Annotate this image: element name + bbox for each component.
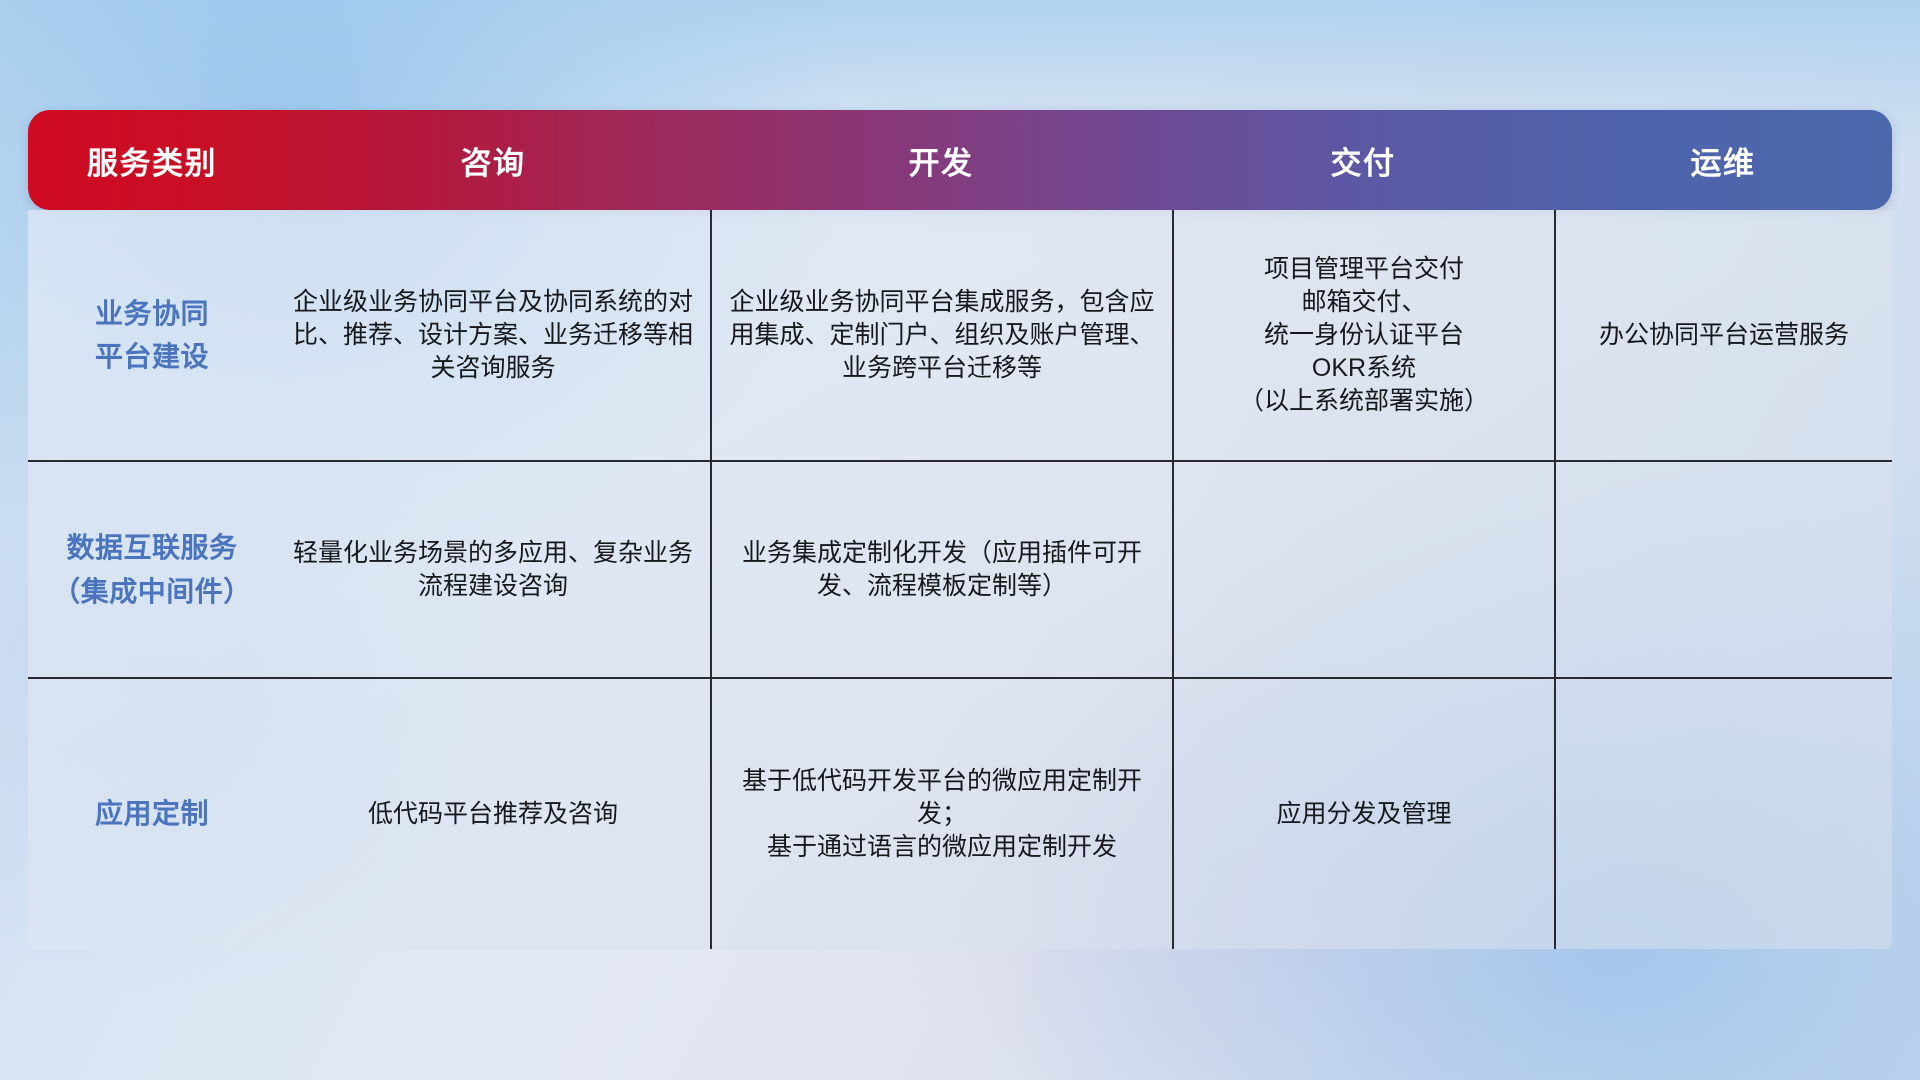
- table-row: 业务协同 平台建设 企业级业务协同平台及协同系统的对比、推荐、设计方案、业务迁移…: [28, 210, 1892, 460]
- cell-development: 业务集成定制化开发（应用插件可开发、流程模板定制等）: [710, 462, 1172, 677]
- cell-operations: [1554, 462, 1892, 677]
- cell-delivery: [1172, 462, 1554, 677]
- column-header-category: 服务类别: [28, 110, 276, 210]
- table-body: 业务协同 平台建设 企业级业务协同平台及协同系统的对比、推荐、设计方案、业务迁移…: [28, 210, 1892, 949]
- cell-consulting: 轻量化业务场景的多应用、复杂业务流程建设咨询: [276, 462, 710, 677]
- cell-operations: 办公协同平台运营服务: [1554, 210, 1892, 460]
- row-category-label: 应用定制: [28, 679, 276, 949]
- column-header-delivery: 交付: [1172, 110, 1554, 210]
- table-row: 应用定制 低代码平台推荐及咨询 基于低代码开发平台的微应用定制开发； 基于通过语…: [28, 677, 1892, 949]
- service-matrix-table: 服务类别 咨询 开发 交付 运维 业务协同 平台建设 企业级业务协同平台及协同系…: [28, 110, 1892, 949]
- cell-delivery: 项目管理平台交付 邮箱交付、 统一身份认证平台 OKR系统 （以上系统部署实施）: [1172, 210, 1554, 460]
- cell-operations: [1554, 679, 1892, 949]
- cell-development: 企业级业务协同平台集成服务，包含应用集成、定制门户、组织及账户管理、业务跨平台迁…: [710, 210, 1172, 460]
- column-header-development: 开发: [710, 110, 1172, 210]
- table-row: 数据互联服务 （集成中间件） 轻量化业务场景的多应用、复杂业务流程建设咨询 业务…: [28, 460, 1892, 677]
- cell-consulting: 低代码平台推荐及咨询: [276, 679, 710, 949]
- row-category-label: 数据互联服务 （集成中间件）: [28, 462, 276, 677]
- column-header-operations: 运维: [1554, 110, 1892, 210]
- cell-consulting: 企业级业务协同平台及协同系统的对比、推荐、设计方案、业务迁移等相关咨询服务: [276, 210, 710, 460]
- table-header-row: 服务类别 咨询 开发 交付 运维: [28, 110, 1892, 210]
- cell-delivery: 应用分发及管理: [1172, 679, 1554, 949]
- row-category-label: 业务协同 平台建设: [28, 210, 276, 460]
- cell-development: 基于低代码开发平台的微应用定制开发； 基于通过语言的微应用定制开发: [710, 679, 1172, 949]
- column-header-consulting: 咨询: [276, 110, 710, 210]
